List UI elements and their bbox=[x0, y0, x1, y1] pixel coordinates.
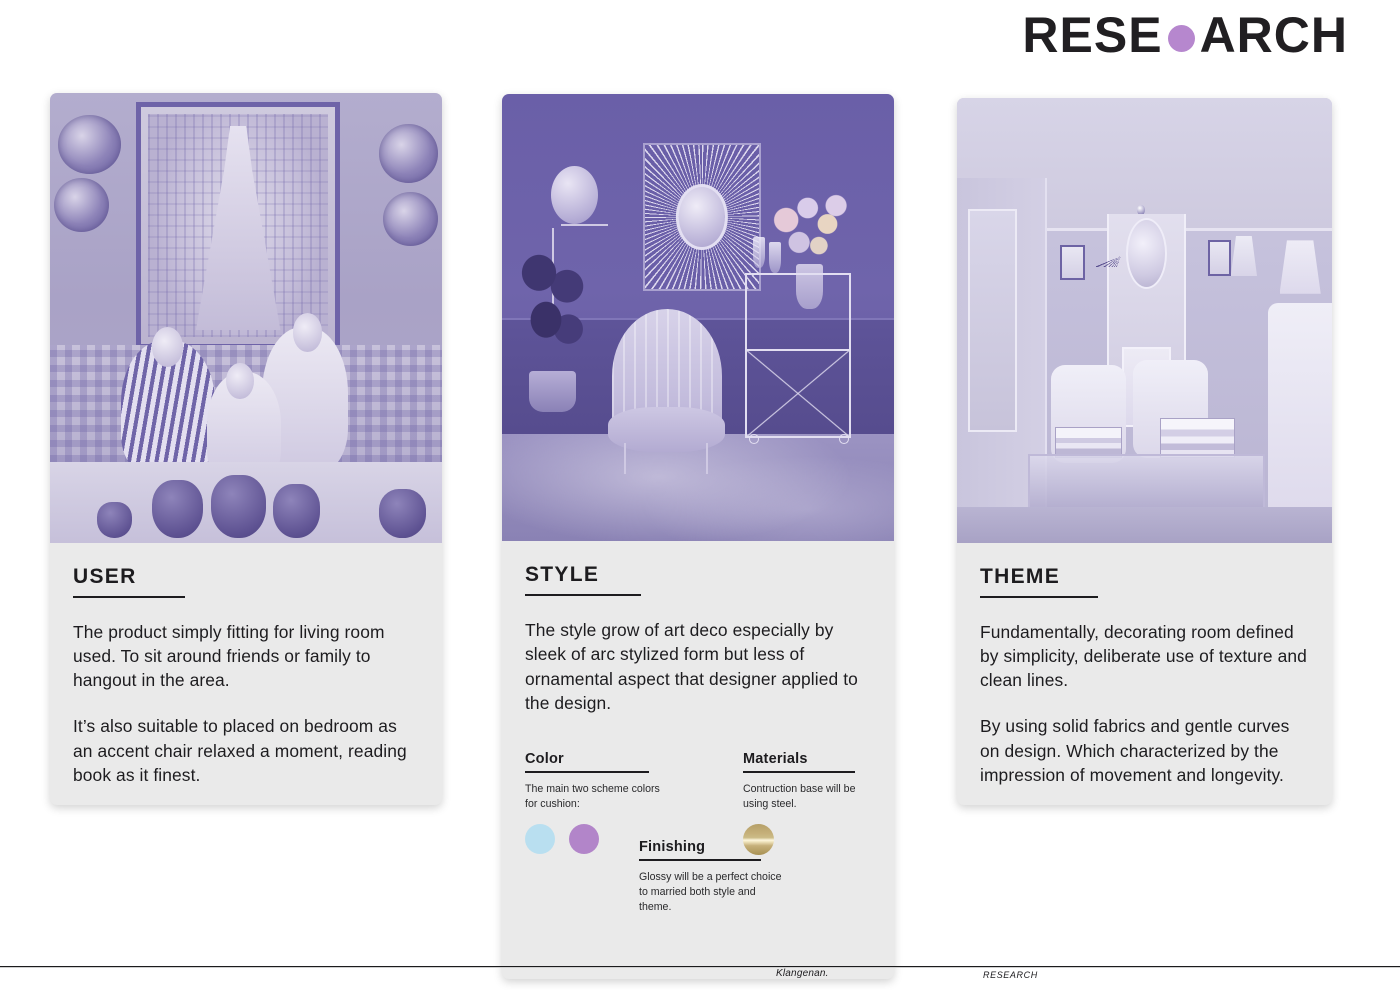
research-board: RESE ARCH bbox=[0, 0, 1400, 990]
card-user: USER The product simply fitting for livi… bbox=[50, 93, 442, 805]
footer-section-label: RESEARCH bbox=[983, 970, 1038, 980]
page-title: RESE ARCH bbox=[1022, 10, 1348, 60]
card-paragraph: The product simply fitting for living ro… bbox=[73, 620, 419, 693]
card-title-style: STYLE bbox=[525, 563, 871, 594]
subsection-finishing: Finishing Glossy will be a perfect choic… bbox=[639, 839, 789, 915]
subsection-title: Finishing bbox=[639, 839, 789, 859]
card-paragraph: The style grow of art deco especially by… bbox=[525, 618, 871, 715]
card-paragraph: It’s also suitable to placed on bedroom … bbox=[73, 714, 419, 787]
card-title-theme: THEME bbox=[980, 565, 1309, 596]
subsection-text: The main two scheme colors for cushion: bbox=[525, 782, 665, 812]
footer-signature: Klangenan. bbox=[776, 968, 829, 979]
art-deco-purple-interior-photo bbox=[502, 94, 894, 541]
subsection-underline bbox=[525, 771, 649, 773]
circle-dot-icon bbox=[1168, 25, 1195, 52]
vintage-family-living-room-photo bbox=[50, 93, 442, 543]
bright-classic-living-room-photo bbox=[957, 98, 1332, 543]
card-paragraph: By using solid fabrics and gentle curves… bbox=[980, 714, 1309, 787]
title-underline bbox=[73, 596, 185, 598]
cushion-color-purple bbox=[569, 824, 599, 854]
subsection-underline bbox=[743, 771, 855, 773]
brand-prefix: RESE bbox=[1022, 10, 1162, 60]
card-style: STYLE The style grow of art deco especia… bbox=[502, 94, 894, 979]
subsection-text: Contruction base will be using steel. bbox=[743, 782, 883, 812]
footer-divider bbox=[0, 966, 1400, 968]
subsection-underline bbox=[639, 859, 761, 861]
title-underline bbox=[980, 596, 1098, 598]
subsection-title: Materials bbox=[743, 751, 883, 771]
cushion-color-light-blue bbox=[525, 824, 555, 854]
subsection-text: Glossy will be a perfect choice to marri… bbox=[639, 870, 789, 915]
card-paragraph: Fundamentally, decorating room defined b… bbox=[980, 620, 1309, 693]
brand-suffix: ARCH bbox=[1200, 10, 1348, 60]
card-theme: THEME Fundamentally, decorating room def… bbox=[957, 98, 1332, 805]
title-underline bbox=[525, 594, 641, 596]
subsection-title: Color bbox=[525, 751, 665, 771]
card-title-user: USER bbox=[73, 565, 419, 596]
style-subsections: Color The main two scheme colors for cus… bbox=[525, 751, 871, 961]
